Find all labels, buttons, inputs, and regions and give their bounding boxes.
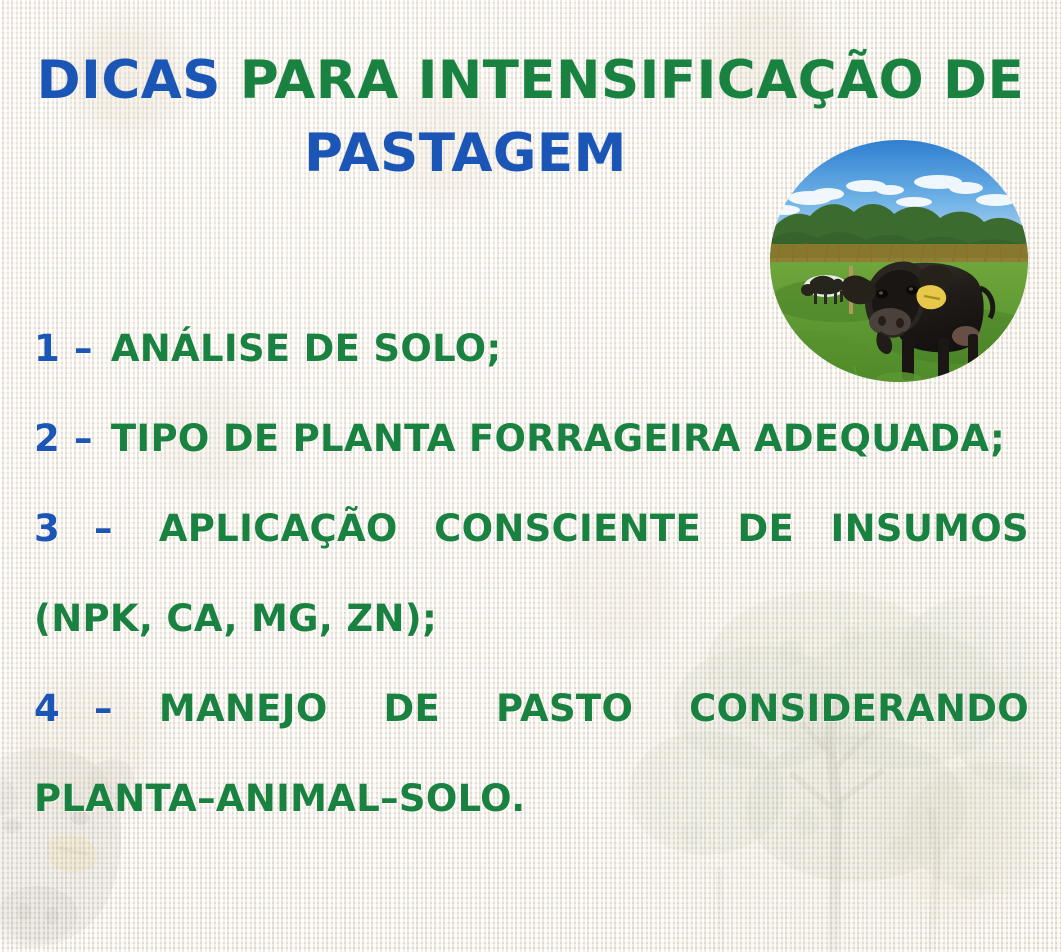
tip-3-line-2: (NPK, CA, MG, ZN); — [34, 600, 1029, 690]
tip-2-number: 2 — [34, 420, 60, 457]
tip-1-text: ANÁLISE DE SOLO; — [111, 330, 502, 367]
poster-content: DICAS PARA INTENSIFICAÇÃO DE PASTAGEM — [0, 0, 1061, 952]
tip-2-line-1: 2 – TIPO DE PLANTA FORRAGEIRA ADEQUADA; — [34, 420, 1029, 510]
tip-3-word: APLICAÇÃO — [159, 510, 398, 547]
tip-3-number: 3 — [34, 510, 60, 547]
tip-3-word: CONSCIENTE — [434, 510, 701, 547]
list-item: 4 – MANEJO DE PASTO CONSIDERANDO PLANTA–… — [34, 690, 1029, 870]
cow-pasture-photo — [770, 140, 1028, 382]
tip-3-dash: – — [94, 510, 113, 547]
poster-root: DICAS PARA INTENSIFICAÇÃO DE PASTAGEM — [0, 0, 1061, 952]
tips-list: 1 – ANÁLISE DE SOLO; 2 – TIPO DE PLANTA … — [34, 330, 1029, 870]
list-item: 2 – TIPO DE PLANTA FORRAGEIRA ADEQUADA; — [34, 420, 1029, 510]
list-item: 3 – APLICAÇÃO CONSCIENTE DE INSUMOS (NPK… — [34, 510, 1029, 690]
tip-4-line-2: PLANTA–ANIMAL–SOLO. — [34, 780, 1029, 870]
tip-4-number: 4 — [34, 690, 60, 727]
tip-3-word: DE — [738, 510, 795, 547]
title-space — [221, 50, 240, 111]
tip-3-word: INSUMOS — [831, 510, 1029, 547]
tip-3-line-1: 3 – APLICAÇÃO CONSCIENTE DE INSUMOS — [34, 510, 1029, 600]
tip-1-number: 1 — [34, 330, 60, 367]
tip-4-word: PASTO — [496, 690, 633, 727]
tip-4-word: DE — [384, 690, 441, 727]
tip-4-line-1: 4 – MANEJO DE PASTO CONSIDERANDO — [34, 690, 1029, 780]
tip-4-word: MANEJO — [159, 690, 328, 727]
title-phrase-para-intensificacao-de: PARA INTENSIFICAÇÃO DE — [240, 50, 1024, 111]
title-word-dicas: DICAS — [37, 50, 221, 111]
tip-4-word: CONSIDERANDO — [689, 690, 1029, 727]
tip-2-text: TIPO DE PLANTA FORRAGEIRA ADEQUADA; — [111, 420, 1005, 457]
tip-2-dash: – — [74, 420, 93, 457]
tip-4-text-line-1: MANEJO DE PASTO CONSIDERANDO — [159, 690, 1029, 727]
title-line-1: DICAS PARA INTENSIFICAÇÃO DE — [0, 44, 1061, 117]
title-word-pastagem: PASTAGEM — [304, 123, 627, 184]
tip-4-dash: – — [94, 690, 113, 727]
tip-1-dash: – — [74, 330, 93, 367]
tip-3-text-line-1: APLICAÇÃO CONSCIENTE DE INSUMOS — [159, 510, 1029, 547]
